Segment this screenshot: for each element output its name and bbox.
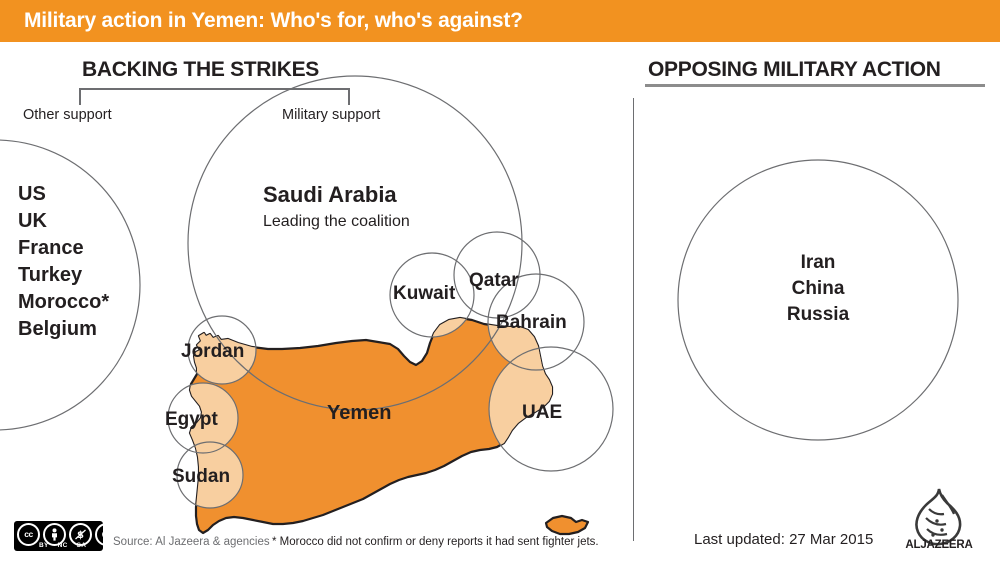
label-egypt: Egypt	[165, 409, 218, 431]
cc-tag-sa: SA	[77, 542, 87, 549]
label-jordan: Jordan	[181, 341, 244, 363]
label-saudi-subtitle: Leading the coalition	[263, 213, 410, 231]
infographic-canvas: Military action in Yemen: Who's for, who…	[0, 0, 1000, 562]
creative-commons-badge: cc $ BY NC	[14, 521, 103, 551]
aljazeera-wordmark: ALJAZEERA	[899, 539, 979, 551]
person-glyph	[49, 528, 60, 541]
country-morocco: Morocco*	[18, 289, 109, 316]
country-uk: UK	[18, 208, 109, 235]
country-france: France	[18, 235, 109, 262]
cc-tag-nc: NC	[58, 542, 68, 549]
country-belgium: Belgium	[18, 316, 109, 343]
country-turkey: Turkey	[18, 262, 109, 289]
opposing-country-list: Iran China Russia	[680, 250, 956, 328]
morocco-footnote: * Morocco did not confirm or deny report…	[272, 536, 599, 548]
label-sudan: Sudan	[172, 466, 230, 488]
label-bahrain: Bahrain	[496, 312, 567, 334]
cc-tag-row: BY NC SA	[39, 542, 86, 549]
other-support-country-list: US UK France Turkey Morocco* Belgium	[18, 181, 109, 343]
source-credit: Source: Al Jazeera & agencies	[113, 536, 270, 548]
dollar-slash-glyph: $	[74, 528, 87, 541]
share-alike-glyph	[100, 528, 113, 541]
label-kuwait: Kuwait	[393, 283, 455, 305]
country-russia: Russia	[680, 302, 956, 328]
label-uae: UAE	[522, 402, 562, 424]
cc-icon: cc	[17, 523, 40, 546]
country-china: China	[680, 276, 956, 302]
last-updated-text: Last updated: 27 Mar 2015	[694, 531, 873, 548]
country-us: US	[18, 181, 109, 208]
label-saudi-arabia: Saudi Arabia	[263, 182, 397, 208]
country-iran: Iran	[680, 250, 956, 276]
label-qatar: Qatar	[469, 270, 519, 292]
label-yemen: Yemen	[327, 402, 391, 425]
cc-tag-by: BY	[39, 542, 49, 549]
socotra-island	[546, 516, 588, 534]
